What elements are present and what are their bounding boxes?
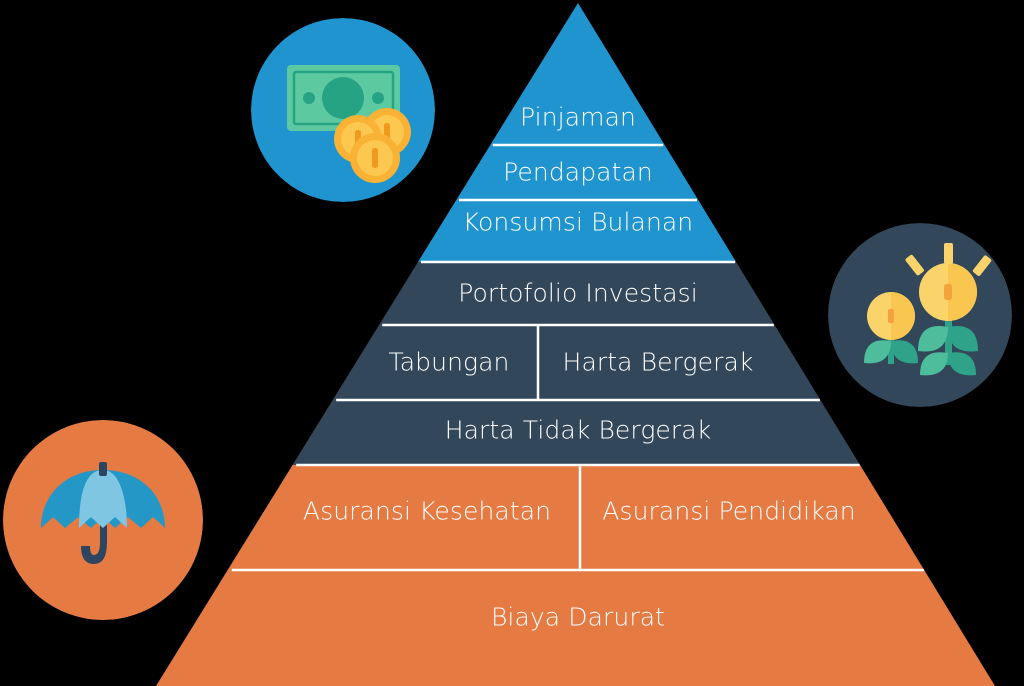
investment-growth-badge[interactable] bbox=[828, 223, 1012, 407]
money-badge[interactable] bbox=[251, 18, 435, 202]
umbrella-icon bbox=[3, 420, 203, 620]
section-blue-band bbox=[0, 3, 1024, 262]
banknote-coins-icon bbox=[251, 18, 435, 202]
infographic-canvas: PinjamanPendapatanKonsumsi BulananPortof… bbox=[0, 0, 1024, 686]
money-plant-icon bbox=[828, 223, 1012, 407]
insurance-protection-badge[interactable] bbox=[3, 420, 203, 620]
